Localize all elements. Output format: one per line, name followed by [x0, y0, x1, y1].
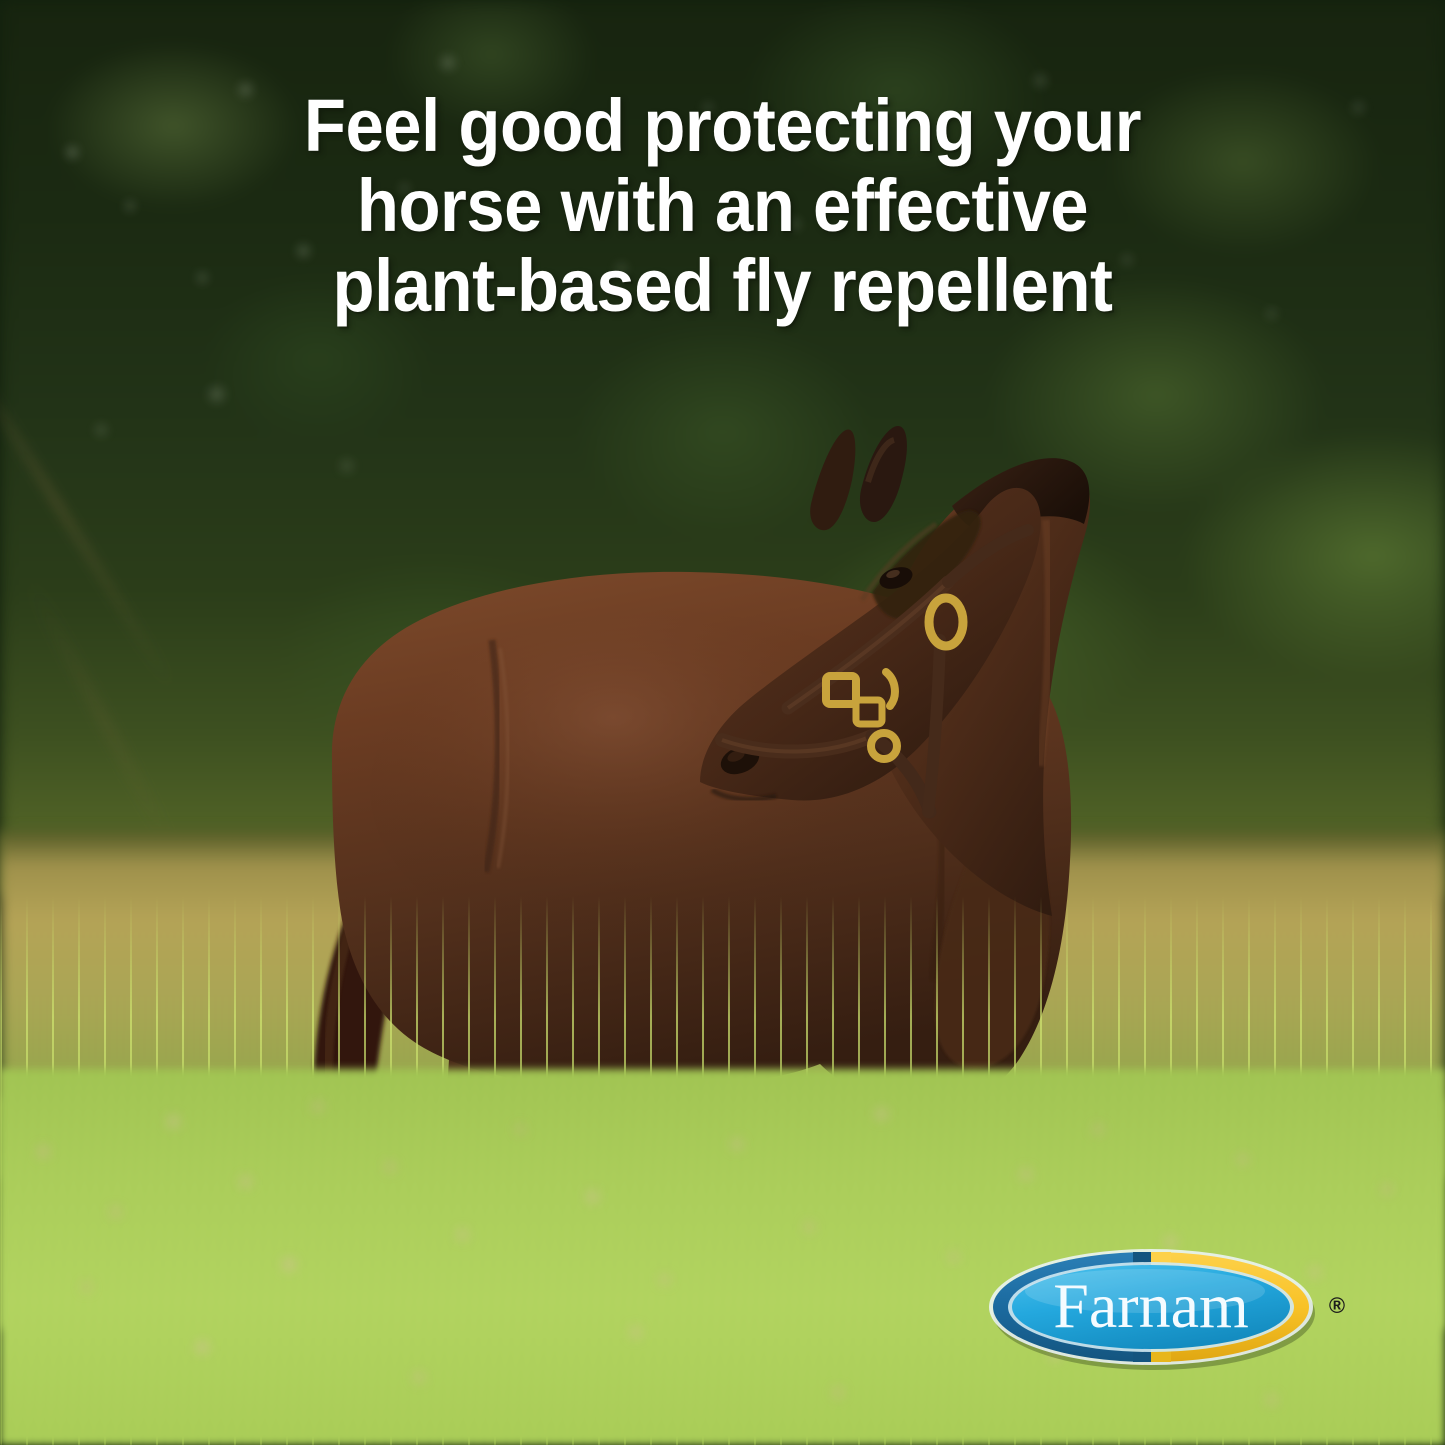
headline-line-3: plant-based fly repellent: [162, 246, 1283, 326]
promotional-image: Feel good protecting your horse with an …: [0, 0, 1445, 1445]
headline: Feel good protecting your horse with an …: [51, 86, 1395, 326]
headline-line-2: horse with an effective: [162, 166, 1283, 246]
headline-line-1: Feel good protecting your: [162, 86, 1283, 166]
registered-trademark-icon: ®: [1329, 1293, 1345, 1318]
logo-wordmark: Farnam: [1053, 1270, 1249, 1341]
farnam-logo: Farnam ®: [985, 1243, 1365, 1375]
